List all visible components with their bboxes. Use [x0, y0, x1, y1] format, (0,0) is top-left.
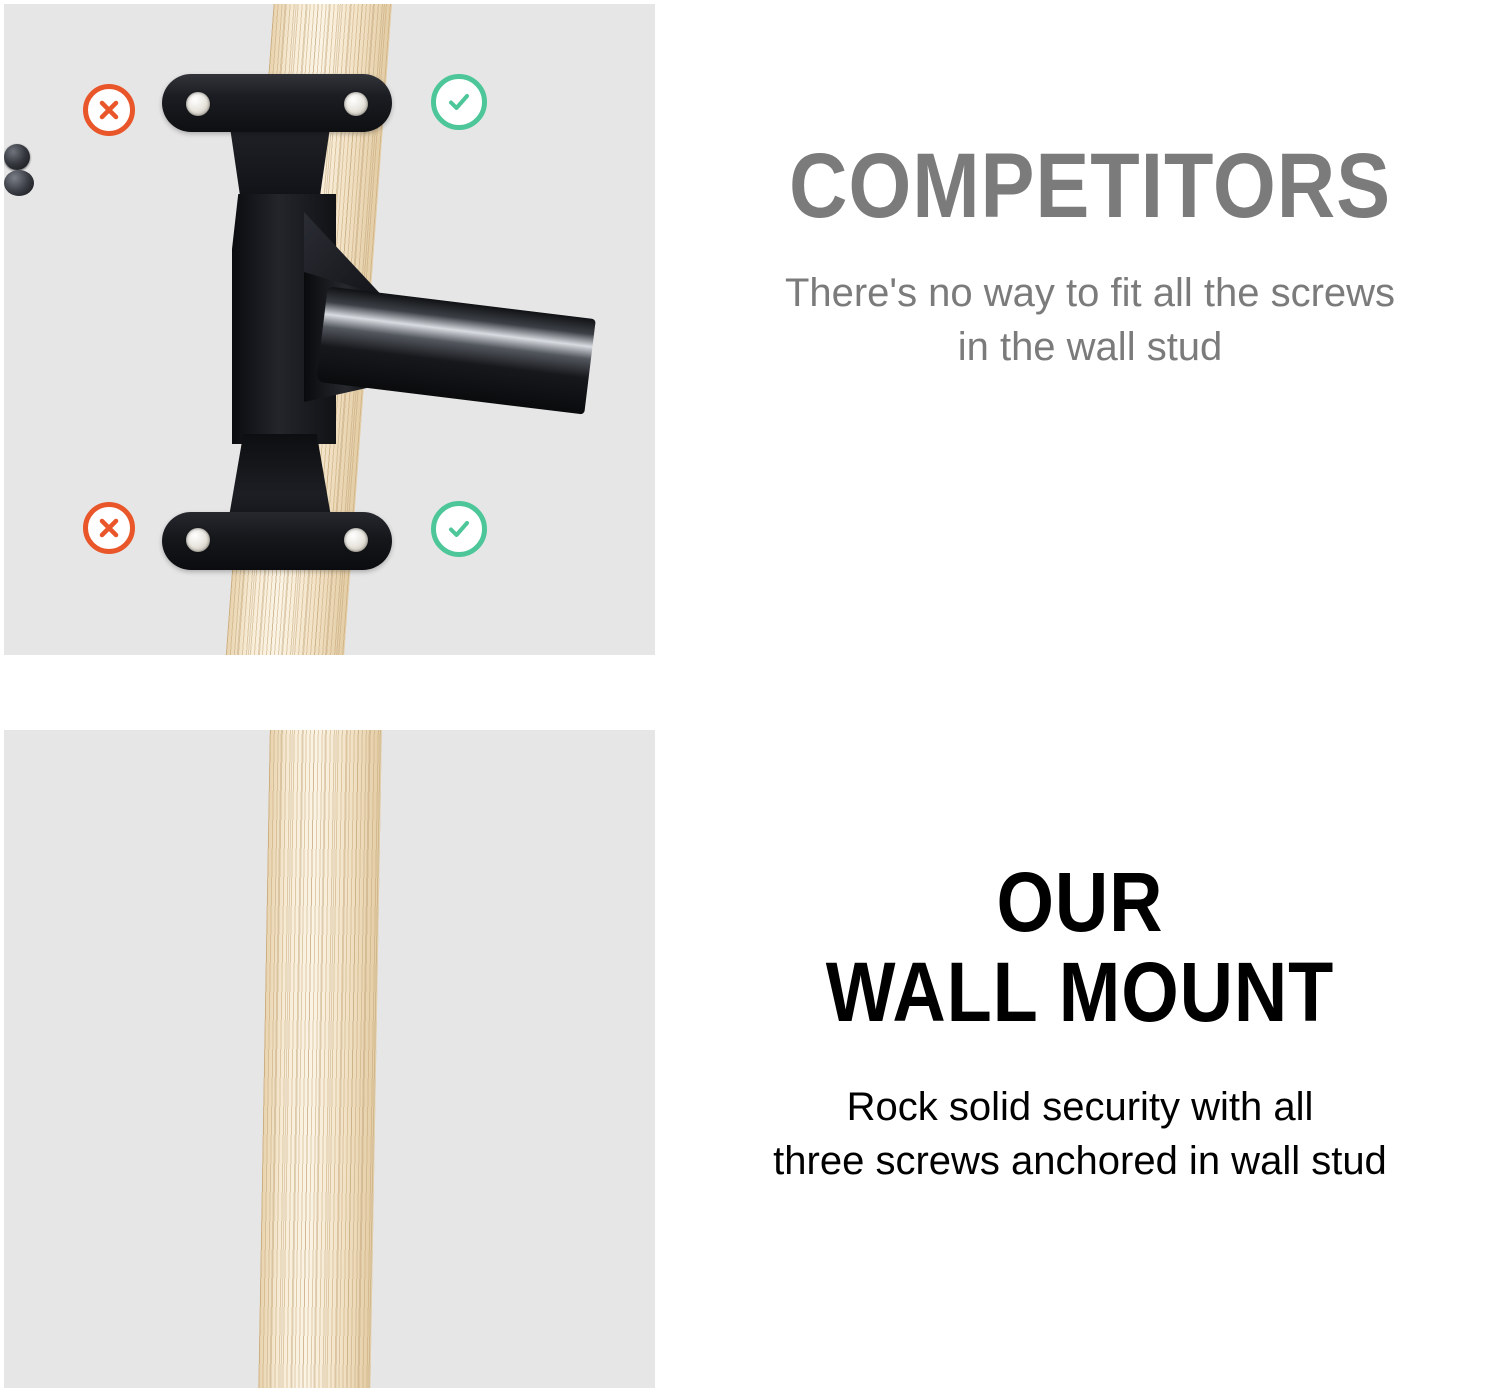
check-icon: [431, 74, 487, 130]
x-icon: [83, 502, 135, 554]
bracket-lower-notch-left: [4, 196, 56, 262]
our-mount-text-block: OUR WALL MOUNT Rock solid security with …: [660, 860, 1500, 1188]
our-mount-image-panel: [4, 730, 655, 1388]
competitor-subtitle: There's no way to fit all the screws in …: [690, 266, 1490, 374]
infographic-stage: COMPETITORS There's no way to fit all th…: [0, 0, 1500, 1394]
competitor-text-block: COMPETITORS There's no way to fit all th…: [690, 140, 1490, 374]
our-subtitle-line-1: Rock solid security with all: [847, 1085, 1314, 1129]
screw-hole-lower-right: [344, 528, 368, 552]
bracket-bolt-lower: [4, 170, 34, 196]
bracket-upper-notch-right: [4, 74, 56, 144]
check-icon: [431, 501, 487, 557]
competitors-title: COMPETITORS: [738, 140, 1442, 232]
wall-stud-graphic: [258, 730, 382, 1388]
x-icon: [83, 84, 135, 136]
screw-hole-upper-left: [186, 92, 210, 116]
our-title-line-1: OUR: [710, 860, 1449, 944]
our-title-line-2: WALL MOUNT: [710, 950, 1449, 1034]
bracket-lower-notch-right: [4, 262, 56, 328]
competitor-subtitle-line-1: There's no way to fit all the screws: [785, 271, 1395, 315]
screw-hole-upper-right: [344, 92, 368, 116]
competitor-image-panel: [4, 4, 655, 655]
screw-hole-lower-left: [186, 528, 210, 552]
bracket-bolt-upper: [4, 144, 30, 170]
competitor-subtitle-line-2: in the wall stud: [958, 325, 1223, 369]
our-subtitle: Rock solid security with all three screw…: [660, 1080, 1500, 1188]
bracket-upper-notch-left: [4, 4, 56, 74]
our-subtitle-line-2: three screws anchored in wall stud: [773, 1139, 1387, 1183]
